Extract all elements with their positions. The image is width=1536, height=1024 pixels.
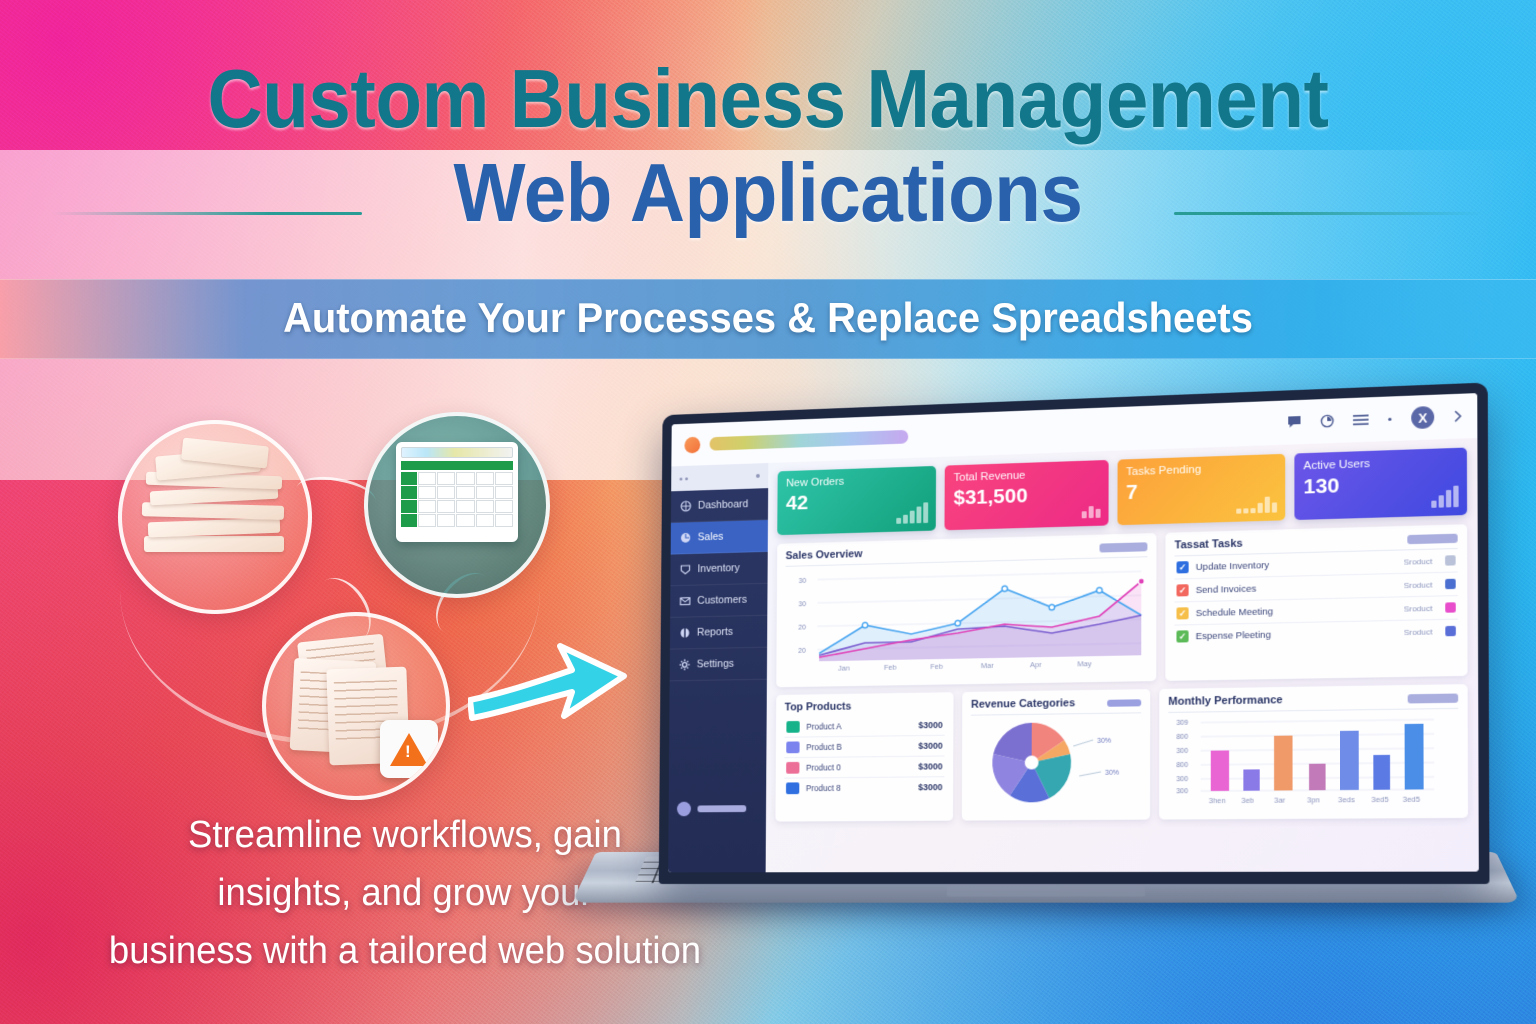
menu-icon[interactable] [1353,413,1369,426]
panel-menu-placeholder[interactable] [1100,542,1148,552]
sidebar-label: Reports [697,626,733,638]
dot-icon [1387,416,1392,421]
headline-rule-right [1174,212,1484,215]
sales-overview-panel: Sales Overview 30 30 [776,533,1156,687]
checkbox-icon[interactable]: ✓ [1176,630,1188,642]
revenue-pie-chart: 30%30% [971,713,1142,808]
svg-text:Mar: Mar [981,661,994,670]
svg-text:3eb: 3eb [1241,796,1254,805]
svg-text:3pn: 3pn [1307,795,1320,804]
svg-text:300: 300 [1176,788,1188,795]
app-screen: X [668,393,1479,872]
task-label: Send Invoices [1196,580,1397,596]
sidebar-dots-icon [680,477,688,480]
task-chip-icon [1445,626,1456,636]
sidebar-item-sales[interactable]: Sales [671,520,768,555]
main-content: New Orders 42 Total Revenue $31,500 [766,438,1479,872]
spreadsheet-icon [364,412,550,598]
paper-stack-icon [118,420,312,614]
task-chip-icon [1445,555,1456,565]
svg-text:30%: 30% [1097,738,1111,745]
svg-text:20: 20 [798,648,806,655]
headline-line-1: Custom Business Management [61,52,1474,146]
svg-text:3ed5: 3ed5 [1403,794,1421,804]
svg-text:Feb: Feb [884,663,896,672]
sidebar-item-customers[interactable]: Customers [670,584,767,618]
kpi-label: New Orders [786,473,928,489]
sidebar-item-settings[interactable]: Settings [670,648,767,682]
chat-icon[interactable] [1287,415,1301,430]
task-chip-icon [1445,602,1456,612]
tasks-panel: Tassat Tasks ✓ Update Inventory Sroduct [1165,524,1467,681]
checkbox-icon[interactable]: ✓ [1177,561,1189,573]
customers-icon [679,595,691,608]
svg-text:800: 800 [1176,734,1188,741]
panel-title: Top Products [785,701,852,714]
chevron-right-icon[interactable] [1453,410,1462,423]
svg-text:3ar: 3ar [1274,795,1286,804]
sidebar-item-dashboard[interactable]: Dashboard [671,488,768,523]
svg-text:300: 300 [1176,748,1188,755]
sidebar: Dashboard Sales Inventor [668,463,768,872]
monthly-bar-chart: 309800300 800300300 [1168,709,1440,809]
monthly-performance-panel: Monthly Performance [1159,684,1468,819]
sparkline-chart [897,501,929,523]
sidebar-user[interactable] [677,801,746,816]
gauge-icon[interactable] [1320,414,1334,429]
product-row[interactable]: Product B $3000 [784,736,944,758]
task-meta: Sroduct [1404,556,1433,566]
product-value: $3000 [918,741,942,751]
account-avatar[interactable]: X [1411,406,1434,429]
sparkline-chart [1236,490,1277,513]
task-label: Schedule Meeting [1196,603,1397,619]
headline-rule-left [52,212,362,215]
product-row[interactable]: Product 0 $3000 [784,756,944,778]
checkbox-icon[interactable]: ✓ [1176,607,1188,619]
kpi-label: Total Revenue [954,467,1100,484]
product-value: $3000 [918,782,942,792]
panel-row-2: Top Products Product A $3000 Product B [775,684,1468,821]
svg-text:309: 309 [1176,720,1188,727]
avatar [677,802,691,817]
svg-text:20: 20 [798,624,806,631]
color-swatch [786,762,799,774]
svg-text:30: 30 [799,578,807,585]
svg-text:30%: 30% [1105,770,1119,777]
svg-text:3eds: 3eds [1338,795,1355,805]
sidebar-label: Sales [698,531,724,543]
task-meta: Sroduct [1404,580,1433,590]
inventory-icon [679,563,691,576]
sparkline-chart [1081,496,1100,518]
sidebar-label: Inventory [697,562,739,575]
top-products-panel: Top Products Product A $3000 Product B [775,692,953,821]
sidebar-collapse-icon[interactable] [756,474,760,478]
product-row[interactable]: Product A $3000 [784,715,944,738]
kpi-card-total-revenue[interactable]: Total Revenue $31,500 [945,460,1108,530]
sparkline-chart [1431,485,1458,508]
svg-text:Apr: Apr [1030,660,1042,669]
kpi-row: New Orders 42 Total Revenue $31,500 [777,448,1467,536]
reports-icon [678,627,690,640]
task-meta: Sroduct [1404,627,1433,637]
app-logo-icon [684,436,700,453]
panel-row-1: Sales Overview 30 30 [776,524,1467,687]
sidebar-item-reports[interactable]: Reports [670,616,767,650]
sidebar-header [671,463,768,491]
sidebar-label: Settings [697,658,734,670]
svg-text:300: 300 [1176,776,1188,783]
product-value: $3000 [918,720,942,730]
color-swatch [786,782,799,794]
headline-line-2: Web Applications [61,146,1474,240]
app-body: Dashboard Sales Inventor [668,438,1479,872]
product-row[interactable]: Product 8 $3000 [784,777,944,798]
kpi-card-active-users[interactable]: Active Users 130 [1294,448,1467,520]
task-row[interactable]: ✓ Espense Pleeting Sroduct [1174,620,1458,648]
svg-text:Jan: Jan [838,663,850,672]
laptop-screen-bezel: X [659,382,1490,884]
product-label: Product 8 [806,782,911,793]
poster: Custom Business Management Web Applicati… [0,0,1536,1024]
kpi-label: Active Users [1303,455,1457,472]
user-name-placeholder [697,805,746,812]
dashboard-icon [679,500,691,513]
task-label: Espense Pleeting [1196,627,1397,642]
svg-text:3ed5: 3ed5 [1371,795,1388,805]
task-meta: Sroduct [1404,603,1433,613]
task-chip-icon [1445,579,1456,589]
svg-text:May: May [1077,659,1091,668]
laptop-mockup: X [596,396,1496,936]
svg-text:30: 30 [799,601,807,608]
sidebar-label: Dashboard [698,498,748,511]
panel-title: Tassat Tasks [1175,538,1243,552]
sidebar-item-inventory[interactable]: Inventory [670,552,767,586]
revenue-categories-panel: Revenue Categories [962,689,1150,820]
warning-icon [380,720,438,778]
address-bar[interactable] [710,430,909,451]
panel-title: Sales Overview [786,548,863,562]
sales-line-chart: 30 30 20 20 [785,557,1148,675]
documents-warning-icon [262,612,450,800]
sidebar-label: Customers [697,594,747,607]
checkbox-icon[interactable]: ✓ [1177,584,1189,596]
panel-menu-placeholder[interactable] [1107,699,1141,707]
subtitle: Automate Your Processes & Replace Spread… [38,292,1497,344]
color-swatch [786,721,799,733]
trackpad [947,886,1146,897]
product-label: Product A [806,720,911,731]
panel-title: Monthly Performance [1168,694,1282,708]
panel-menu-placeholder[interactable] [1407,533,1457,544]
product-label: Product B [806,741,911,752]
kpi-card-new-orders[interactable]: New Orders 42 [777,466,936,535]
panel-title: Revenue Categories [971,697,1075,710]
product-value: $3000 [918,761,942,771]
settings-icon [678,658,690,671]
panel-menu-placeholder[interactable] [1408,693,1458,703]
svg-text:800: 800 [1176,762,1188,769]
kpi-card-tasks-pending[interactable]: Tasks Pending 7 [1117,454,1285,525]
product-label: Product 0 [806,762,911,773]
svg-text:3hen: 3hen [1209,796,1226,805]
kpi-value: $31,500 [954,483,1100,508]
kpi-label: Tasks Pending [1126,461,1276,478]
task-label: Update Inventory [1196,556,1397,572]
color-swatch [786,741,799,753]
svg-text:Feb: Feb [930,662,943,671]
sales-icon [679,531,691,544]
